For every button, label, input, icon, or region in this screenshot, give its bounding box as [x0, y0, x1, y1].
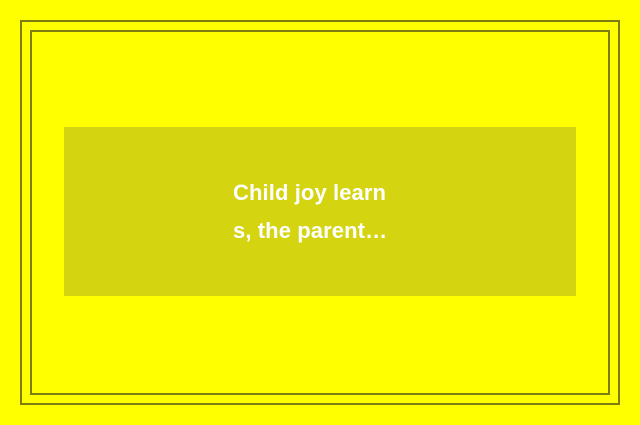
- panel-text-line-1: Child joy learn: [233, 174, 576, 212]
- slide-canvas: Child joy learns, the parent…: [0, 0, 640, 425]
- content-panel: Child joy learns, the parent…: [64, 127, 576, 296]
- panel-text-block: Child joy learns, the parent…: [64, 174, 576, 250]
- panel-text-line-2: s, the parent…: [233, 212, 576, 250]
